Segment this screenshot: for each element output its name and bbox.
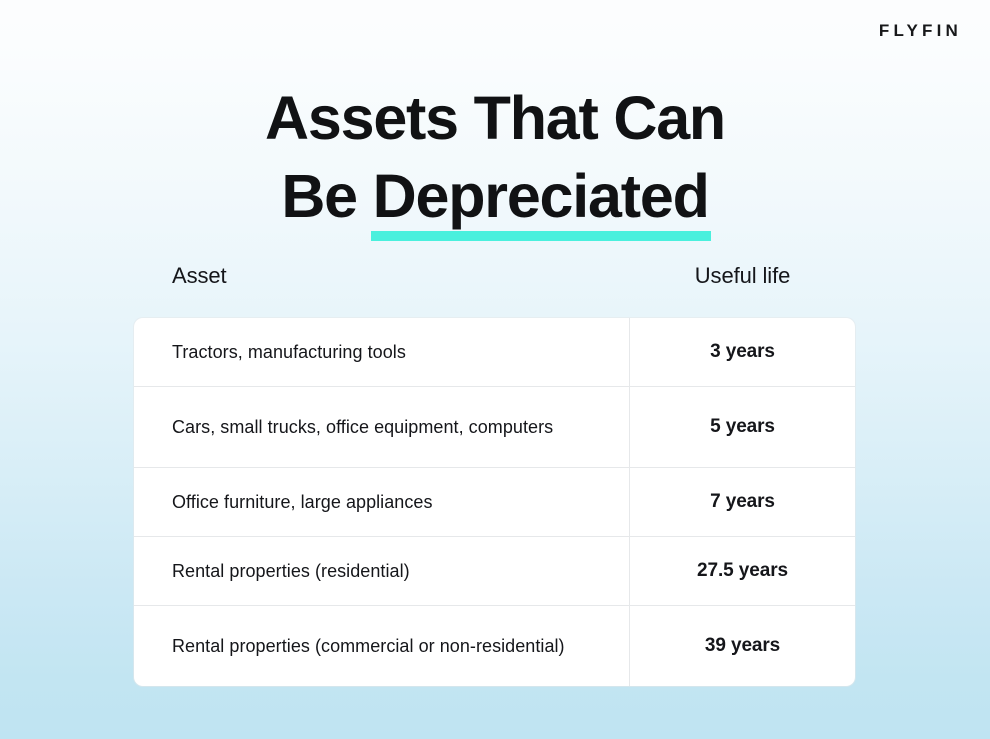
page-title-line-2: Be Depreciated — [0, 157, 990, 235]
table-row: Cars, small trucks, office equipment, co… — [134, 387, 855, 468]
assets-table: Tractors, manufacturing tools 3 years Ca… — [134, 318, 855, 686]
page-title-highlighted-word: Depreciated — [373, 157, 709, 235]
column-header-useful-life: Useful life — [630, 257, 855, 289]
cell-asset: Rental properties (commercial or non-res… — [134, 606, 630, 686]
cell-asset: Office furniture, large appliances — [134, 468, 630, 536]
cell-useful-life: 5 years — [630, 387, 855, 467]
cell-useful-life: 27.5 years — [630, 537, 855, 605]
cell-asset: Rental properties (residential) — [134, 537, 630, 605]
table-row: Office furniture, large appliances 7 yea… — [134, 468, 855, 537]
page-title-line-1: Assets That Can — [0, 79, 990, 157]
table-header-row: Asset Useful life — [134, 257, 855, 318]
flyfin-logo: FLYFIN — [879, 22, 962, 39]
assets-table-container: Asset Useful life Tractors, manufacturin… — [134, 257, 855, 686]
cell-useful-life: 39 years — [630, 606, 855, 686]
cell-asset: Tractors, manufacturing tools — [134, 318, 630, 386]
table-row: Rental properties (commercial or non-res… — [134, 606, 855, 686]
page-title-highlight-text: Depreciated — [373, 162, 709, 230]
table-row: Rental properties (residential) 27.5 yea… — [134, 537, 855, 606]
column-header-asset: Asset — [134, 257, 630, 289]
highlight-underline-bar — [371, 231, 711, 241]
cell-useful-life: 7 years — [630, 468, 855, 536]
cell-asset: Cars, small trucks, office equipment, co… — [134, 387, 630, 467]
cell-useful-life: 3 years — [630, 318, 855, 386]
page-title-line-2-prefix: Be — [281, 162, 372, 230]
page-title: Assets That Can Be Depreciated — [0, 79, 990, 235]
table-row: Tractors, manufacturing tools 3 years — [134, 318, 855, 387]
